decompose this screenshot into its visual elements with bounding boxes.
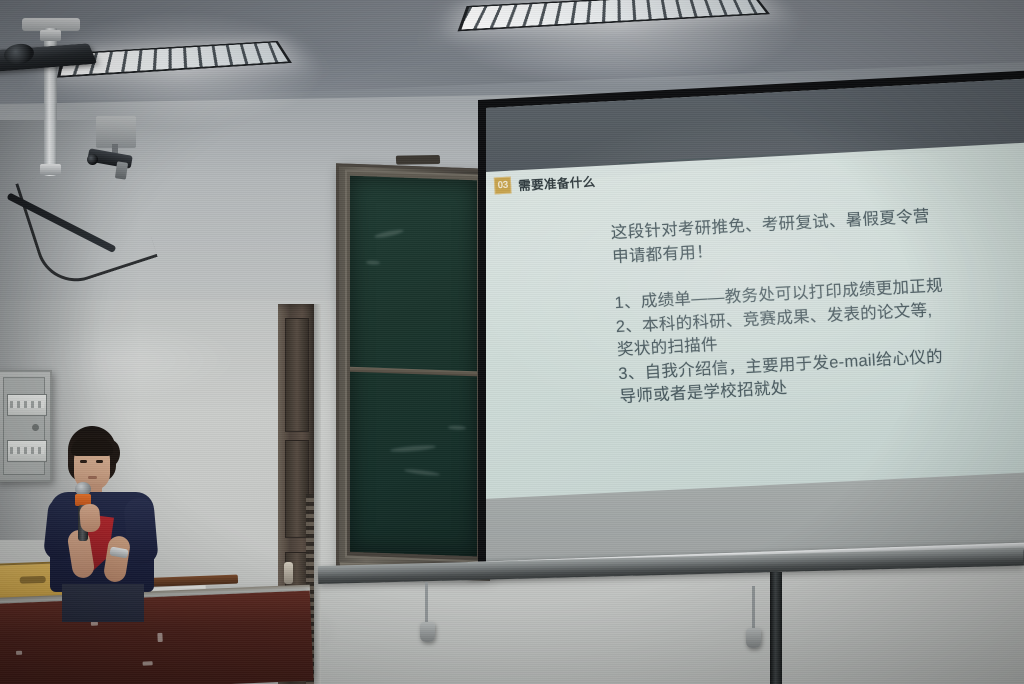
panel-latch-icon[interactable] — [32, 424, 39, 431]
door-panel-top — [285, 318, 309, 432]
speaker-bangs — [71, 438, 113, 456]
breaker-row-top — [7, 394, 47, 416]
slide-body-text: 这段针对考研推免、考研复试、暑假夏令营 申请都有用！ 1、成绩单——教务处可以打… — [610, 201, 1019, 410]
desk-speck — [16, 651, 22, 655]
blackboard-top-clip — [396, 155, 440, 165]
hanging-weight-left — [420, 622, 435, 642]
slide-header-rule — [619, 153, 811, 164]
chalk-smudge — [404, 468, 440, 476]
projector-collar-top — [40, 30, 61, 41]
chalk-smudge — [374, 228, 404, 239]
door-frame — [314, 304, 321, 684]
breaker-row-bottom — [7, 440, 47, 462]
speaker-eye-left — [80, 460, 87, 463]
panel-handle-slot — [20, 576, 46, 584]
speaker-hand — [79, 503, 101, 532]
speaker-eye-right — [96, 460, 103, 463]
classroom-photo-scene: 03 需要准备什么 这段针对考研推免、考研复试、暑假夏令营 申请都有用！ 1、成… — [0, 0, 1024, 684]
wall-security-camera — [88, 116, 146, 182]
wall-pipe — [770, 572, 782, 684]
hanging-cord-right — [752, 586, 755, 632]
camera-lens-icon — [87, 154, 98, 165]
slide-content: 03 需要准备什么 这段针对考研推免、考研复试、暑假夏令营 申请都有用！ 1、成… — [462, 70, 1024, 570]
section-number-badge: 03 — [494, 177, 512, 195]
blackboard-surface — [350, 176, 477, 557]
desk-speck — [157, 633, 162, 642]
slide-header: 03 需要准备什么 — [494, 171, 596, 195]
desk-speck — [91, 622, 98, 626]
door-handle[interactable] — [284, 562, 293, 584]
camera-housing — [115, 161, 128, 179]
slide-section-title: 需要准备什么 — [518, 171, 596, 194]
desk-speck — [143, 661, 153, 665]
hanging-weight-right — [746, 628, 761, 648]
speaker-mouth — [88, 476, 97, 479]
chalk-smudge — [366, 260, 380, 265]
speaker-jeans — [62, 584, 144, 622]
projection-screen: 03 需要准备什么 这段针对考研推免、考研复试、暑假夏令营 申请都有用！ 1、成… — [462, 70, 1024, 580]
screen-surface: 03 需要准备什么 这段针对考研推免、考研复试、暑假夏令营 申请都有用！ 1、成… — [462, 70, 1024, 570]
panel-door[interactable] — [3, 377, 45, 475]
hanging-cord-left — [425, 582, 428, 626]
speaker — [44, 426, 160, 618]
chalk-smudge — [390, 444, 436, 453]
